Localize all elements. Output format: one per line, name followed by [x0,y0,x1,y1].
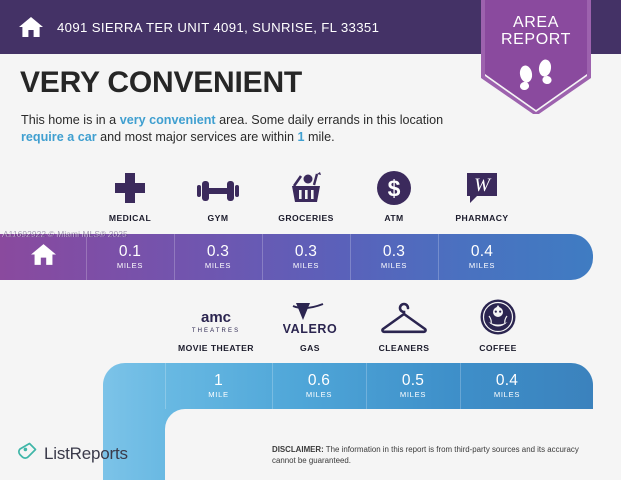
svg-text:$: $ [388,176,401,202]
category-label: COFFEE [479,343,517,353]
distance-value: 0.3 [295,244,317,260]
svg-text:W: W [474,175,492,196]
distance-unit: MILES [381,261,407,270]
home-icon [30,242,57,272]
distance-value: 0.3 [383,244,405,260]
disclaimer-label: DISCLAIMER: [272,445,324,454]
desc-highlight-2: require a car [21,130,97,144]
distance-unit: MILES [293,261,319,270]
category-label: GAS [300,343,320,353]
desc-part-1: This home is in a [21,113,120,127]
listreports-label: ListReports [44,444,128,464]
amc-theatres-icon: amc THEATRES [187,296,245,336]
mls-watermark: A11692922 © Miami MLS® 2025 A11692922 © … [2,229,127,239]
category-pharmacy: W PHARMACY [438,166,526,223]
category-label: MEDICAL [109,213,151,223]
mls-watermark-shadow: A11692922 © Miami MLS® 2025 [3,229,128,239]
row1-home-marker [0,234,86,280]
category-label: CLEANERS [379,343,430,353]
row1-value-medical: 0.1 MILES [86,234,174,280]
category-medical: MEDICAL [86,166,174,223]
row1-value-gym: 0.3 MILES [174,234,262,280]
row1-value-atm: 0.3 MILES [350,234,438,280]
property-address: 4091 SIERRA TER UNIT 4091, SUNRISE, FL 3… [57,20,379,35]
home-icon [18,15,44,39]
category-gas: VALERO GAS [263,296,357,353]
listreports-house-icon [18,442,37,466]
category-atm: $ ATM [350,166,438,223]
desc-part-4: mile. [305,130,335,144]
category-coffee: COFFEE [451,296,545,353]
row1-value-pharmacy: 0.4 MILES [438,234,526,280]
distance-unit: MILES [117,261,143,270]
category-label: GYM [208,213,229,223]
distance-value: 0.5 [402,373,424,389]
badge-label: AREA REPORT [481,14,591,48]
header-content: 4091 SIERRA TER UNIT 4091, SUNRISE, FL 3… [18,0,379,54]
row2-value-movie-theater: 1 MILE [165,363,272,409]
category-label: MOVIE THEATER [178,343,254,353]
distance-value: 0.6 [308,373,330,389]
dollar-circle-icon: $ [376,166,412,206]
row2-value-coffee: 0.4 MILES [460,363,554,409]
desc-part-3: and most major services are within [97,130,298,144]
description-text: This home is in a very convenient area. … [21,112,446,146]
distance-value: 0.4 [471,244,493,260]
listreports-logo: ListReports [18,442,128,466]
hanger-icon [379,296,429,336]
badge-line-2: REPORT [481,31,591,48]
medical-cross-icon [113,166,147,206]
row2-leading-space [103,363,165,409]
distance-unit: MILES [306,390,332,399]
desc-highlight-1: very convenient [120,113,216,127]
category-cleaners: CLEANERS [357,296,451,353]
category-label: GROCERIES [278,213,334,223]
svg-text:amc: amc [201,309,231,326]
row1-value-groceries: 0.3 MILES [262,234,350,280]
row1-distance-bar: 0.1 MILES 0.3 MILES 0.3 MILES 0.3 MILES … [0,234,593,280]
walgreens-w-icon: W [465,166,499,206]
category-gym: GYM [174,166,262,223]
page-title: VERY CONVENIENT [20,66,302,100]
desc-part-2: area. Some daily errands in this locatio… [216,113,444,127]
category-movie-theater: amc THEATRES MOVIE THEATER [169,296,263,353]
disclaimer: DISCLAIMER: The information in this repo… [272,444,602,466]
distance-unit: MILES [494,390,520,399]
dumbbell-icon [197,166,239,206]
area-report-page: 4091 SIERRA TER UNIT 4091, SUNRISE, FL 3… [0,0,621,480]
distance-value: 0.3 [207,244,229,260]
distance-unit: MILE [208,390,229,399]
row2-segments: 1 MILE 0.6 MILES 0.5 MILES 0.4 MILES [103,363,593,409]
row2-value-cleaners: 0.5 MILES [366,363,460,409]
distance-unit: MILES [400,390,426,399]
distance-value: 0.1 [119,244,141,260]
row2-value-gas: 0.6 MILES [272,363,366,409]
distance-unit: MILES [205,261,231,270]
distance-unit: MILES [469,261,495,270]
badge-line-1: AREA [481,14,591,31]
category-groceries: GROCERIES [262,166,350,223]
svg-text:VALERO: VALERO [283,322,337,336]
starbucks-icon [479,296,517,336]
row1-icon-group: MEDICAL GYM [86,166,593,223]
category-label: ATM [384,213,403,223]
grocery-basket-icon [288,166,324,206]
distance-value: 0.4 [496,373,518,389]
desc-highlight-3: 1 [297,130,304,144]
valero-icon: VALERO [283,296,337,336]
distance-value: 1 [214,373,223,389]
svg-text:THEATRES: THEATRES [192,328,240,334]
row2-icon-group: amc THEATRES MOVIE THEATER VALERO GAS [169,296,593,353]
area-report-badge: AREA REPORT [481,0,591,114]
category-label: PHARMACY [455,213,508,223]
